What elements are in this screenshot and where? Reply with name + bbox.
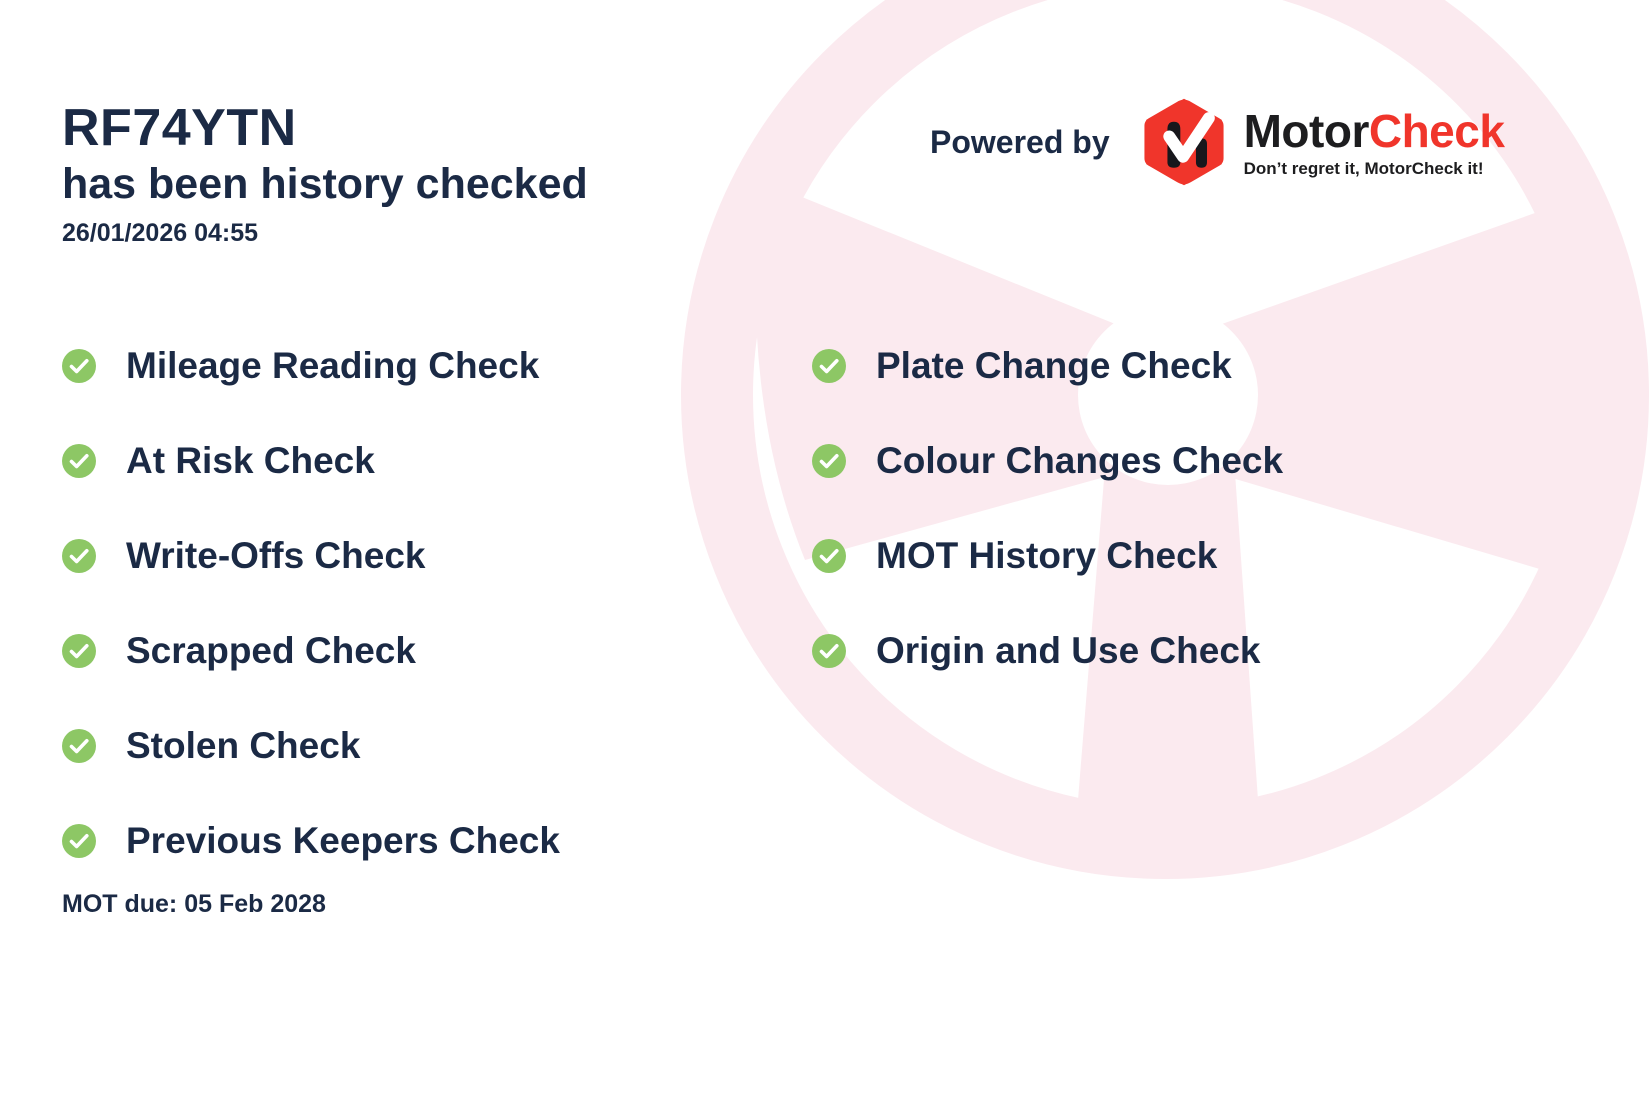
motorcheck-hexagon-m-tick-icon [1138,96,1230,188]
check-item: At Risk Check [62,413,560,508]
checks-right-column: Plate Change Check Colour Changes Check … [812,318,1283,698]
check-item-label: Plate Change Check [876,345,1232,387]
powered-by-label: Powered by [930,124,1110,161]
check-item: MOT History Check [812,508,1283,603]
check-circle-icon [62,349,96,383]
mot-due-label: MOT due: 05 Feb 2028 [62,890,326,919]
check-item-label: MOT History Check [876,535,1217,577]
check-item: Scrapped Check [62,603,560,698]
brand-tagline: Don’t regret it, MotorCheck it! [1244,160,1505,177]
check-item-label: Stolen Check [126,725,360,767]
check-item-label: Write-Offs Check [126,535,426,577]
check-item-label: Origin and Use Check [876,630,1261,672]
check-circle-icon [812,634,846,668]
check-timestamp: 26/01/2026 04:55 [62,219,588,248]
check-circle-icon [62,824,96,858]
brand-wordmark: MotorCheck [1244,108,1505,154]
check-item: Stolen Check [62,698,560,793]
powered-by-block: Powered by MotorCheck Don’t regret it, M… [930,96,1504,188]
check-circle-icon [62,444,96,478]
check-circle-icon [812,444,846,478]
check-circle-icon [812,539,846,573]
check-item: Plate Change Check [812,318,1283,413]
check-item: Write-Offs Check [62,508,560,603]
check-item-label: Previous Keepers Check [126,820,560,862]
check-circle-icon [62,634,96,668]
check-item-label: Scrapped Check [126,630,416,672]
check-circle-icon [62,729,96,763]
check-item: Colour Changes Check [812,413,1283,508]
check-item: Origin and Use Check [812,603,1283,698]
brand-text: MotorCheck Don’t regret it, MotorCheck i… [1244,108,1505,177]
vehicle-registration: RF74YTN [62,98,588,158]
vehicle-history-check-banner: RF74YTN has been history checked 26/01/2… [0,0,1650,1100]
brand-word-check: Check [1369,105,1505,157]
checks-left-column: Mileage Reading Check At Risk Check Writ… [62,318,560,888]
check-item: Previous Keepers Check [62,793,560,888]
header-block: RF74YTN has been history checked 26/01/2… [62,98,588,248]
check-circle-icon [812,349,846,383]
check-item-label: Colour Changes Check [876,440,1283,482]
check-circle-icon [62,539,96,573]
brand-word-motor: Motor [1244,105,1369,157]
check-item-label: Mileage Reading Check [126,345,539,387]
motorcheck-logo[interactable]: MotorCheck Don’t regret it, MotorCheck i… [1138,96,1505,188]
check-item-label: At Risk Check [126,440,375,482]
check-item: Mileage Reading Check [62,318,560,413]
page-title: has been history checked [62,160,588,209]
